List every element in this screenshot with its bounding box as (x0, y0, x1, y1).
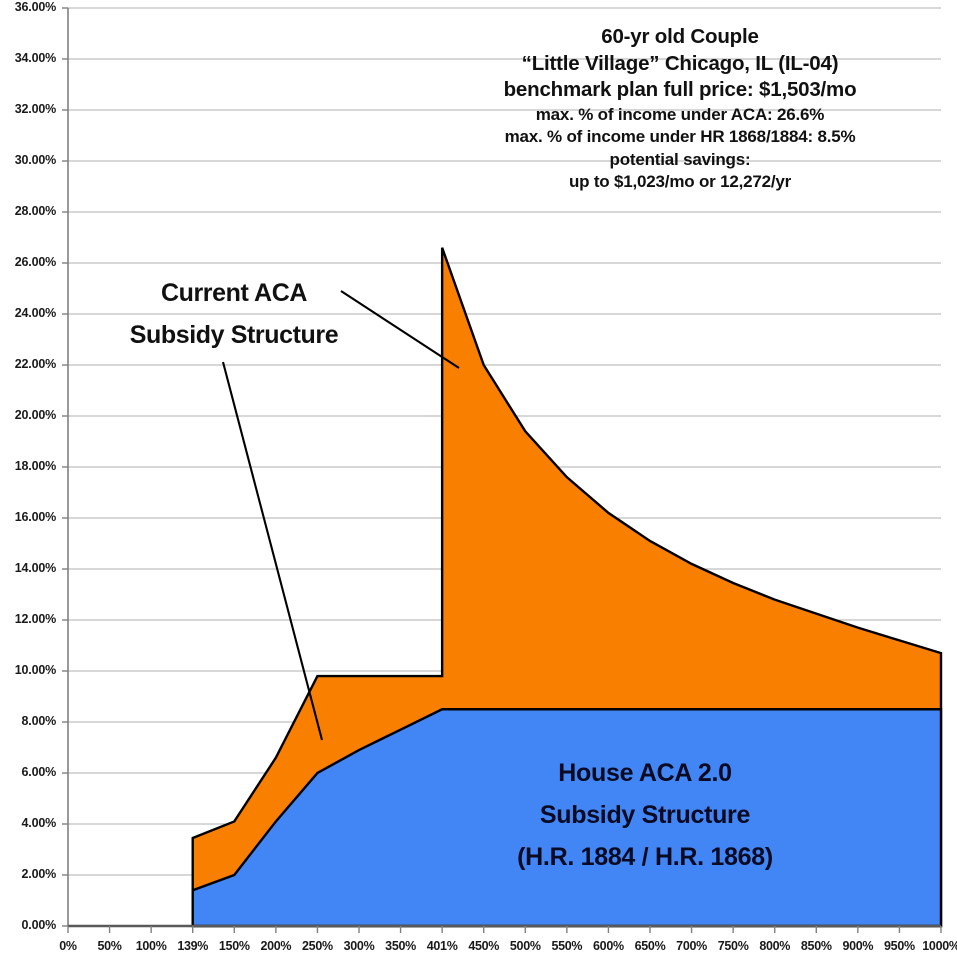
leader-line-aca-lower (223, 362, 322, 740)
y-axis-label-10: 10.00% (0, 663, 56, 677)
leader-lines-group (223, 291, 459, 740)
y-axis-label-4: 4.00% (0, 816, 56, 830)
y-axis-label-26: 26.00% (0, 255, 56, 269)
y-axis-label-16: 16.00% (0, 510, 56, 524)
y-axis-label-12: 12.00% (0, 612, 56, 626)
y-axis-label-36: 36.00% (0, 0, 56, 14)
y-axis-label-18: 18.00% (0, 459, 56, 473)
annotation-current-aca: Current ACA Subsidy Structure (98, 272, 370, 356)
y-axis-label-20: 20.00% (0, 408, 56, 422)
annotation-house-aca: House ACA 2.0 Subsidy Structure (H.R. 18… (440, 752, 850, 878)
y-axis-label-22: 22.00% (0, 357, 56, 371)
y-axis-label-34: 34.00% (0, 51, 56, 65)
y-axis-label-24: 24.00% (0, 306, 56, 320)
annotation-current-aca-line-1: Current ACA (98, 272, 370, 314)
annotation-house-aca-line-2: Subsidy Structure (440, 794, 850, 836)
y-axis-label-8: 8.00% (0, 714, 56, 728)
y-axis-label-2: 2.00% (0, 867, 56, 881)
annotation-house-aca-line-3: (H.R. 1884 / H.R. 1868) (440, 836, 850, 878)
y-axis-label-32: 32.00% (0, 102, 56, 116)
annotation-current-aca-line-2: Subsidy Structure (98, 314, 370, 356)
y-axis-label-6: 6.00% (0, 765, 56, 779)
y-axis-label-14: 14.00% (0, 561, 56, 575)
y-axis-label-28: 28.00% (0, 204, 56, 218)
x-axis-label-1000%: 1000% (911, 939, 957, 953)
chart-container: 0.00%2.00%4.00%6.00%8.00%10.00%12.00%14.… (0, 0, 957, 966)
y-axis-label-0: 0.00% (0, 918, 56, 932)
y-axis-label-30: 30.00% (0, 153, 56, 167)
annotation-house-aca-line-1: House ACA 2.0 (440, 752, 850, 794)
